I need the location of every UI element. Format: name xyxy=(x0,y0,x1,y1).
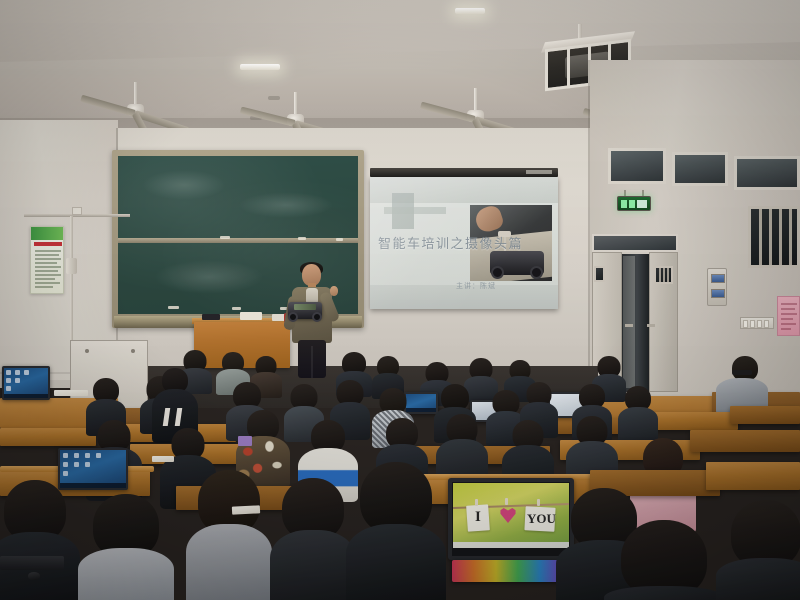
desktop-icon[interactable] xyxy=(63,453,68,458)
cabinet-screw xyxy=(85,349,89,353)
wall-control-panel[interactable] xyxy=(707,268,727,306)
poster-title-bar xyxy=(34,242,62,246)
student-body xyxy=(270,530,356,600)
upper-window xyxy=(672,152,728,186)
smart-car-robot xyxy=(288,302,322,319)
slide-title-text: 智能车培训之摄像头篇 xyxy=(378,233,502,252)
photo-smart-car xyxy=(490,251,544,275)
poster-text-line xyxy=(781,318,793,320)
slide-subtitle-text: 主讲：陈斌 xyxy=(456,281,496,291)
door-window-bar xyxy=(659,268,661,282)
classroom-photo: 智能车培训之摄像头篇 主讲：陈斌 xyxy=(0,0,800,600)
barred-window xyxy=(748,206,800,268)
photo-hand xyxy=(473,205,505,234)
cage-bar xyxy=(567,46,570,88)
ceiling-light xyxy=(240,64,280,70)
wallpaper-clothespin xyxy=(475,499,478,506)
chalk-piece[interactable] xyxy=(336,238,343,241)
desktop-icon[interactable] xyxy=(74,462,79,467)
poster-text-line xyxy=(35,250,61,252)
control-panel-display xyxy=(711,289,725,298)
poster-header-band xyxy=(31,227,63,240)
student-body xyxy=(346,524,446,600)
light-switch[interactable] xyxy=(764,320,769,328)
laptop-screen[interactable] xyxy=(4,368,48,398)
wallpaper-clothespin xyxy=(537,499,540,506)
window-bar xyxy=(769,209,772,265)
student-foreground xyxy=(604,520,724,600)
poster-text-line xyxy=(35,270,58,272)
student xyxy=(618,386,658,440)
poster-text-line xyxy=(35,258,61,260)
student-body-light xyxy=(186,524,272,600)
student-body-light xyxy=(78,548,174,600)
desktop-icon[interactable] xyxy=(63,471,68,476)
cabinet-screw xyxy=(131,349,135,353)
light-switch[interactable] xyxy=(757,320,762,328)
eyeglasses xyxy=(732,370,752,375)
ceiling-light xyxy=(455,8,485,14)
exit-sign-glyph xyxy=(629,200,635,208)
poster-text-line xyxy=(35,282,60,284)
student-foreground xyxy=(0,480,80,600)
desktop-icon[interactable] xyxy=(96,453,101,458)
door-left-window xyxy=(594,266,605,282)
door-window-bar xyxy=(667,268,669,282)
upper-window xyxy=(608,148,666,184)
desktop-icon[interactable] xyxy=(6,386,11,391)
wallpaper-text-i: I xyxy=(475,509,481,526)
student-right-side xyxy=(716,356,768,412)
desk-note[interactable] xyxy=(238,436,252,446)
student-foreground xyxy=(78,494,174,600)
poster-text-line xyxy=(35,254,59,256)
exit-sign-arrow-glyph xyxy=(637,200,647,208)
wall-rail-bracket xyxy=(72,207,82,215)
robot-wheel xyxy=(312,312,322,322)
projection-screen: 智能车培训之摄像头篇 主讲：陈斌 xyxy=(370,177,558,309)
poster-text-line xyxy=(35,286,53,288)
poster-text-line xyxy=(781,303,797,305)
laptop-left-blue[interactable] xyxy=(2,366,50,400)
pink-notice-poster xyxy=(777,296,800,336)
student-foreground xyxy=(716,500,800,600)
laptop-keyboard[interactable] xyxy=(0,556,64,570)
desk-row-front xyxy=(706,462,800,490)
chalk-piece[interactable] xyxy=(220,236,230,239)
student-body xyxy=(604,586,724,600)
desk-papers[interactable] xyxy=(54,390,88,396)
desktop-icon[interactable] xyxy=(63,462,68,467)
light-switch[interactable] xyxy=(750,320,755,328)
screen-brand-label xyxy=(526,170,552,174)
poster-text-line xyxy=(35,274,61,276)
laptop-taskbar[interactable] xyxy=(453,542,569,548)
door-right-window xyxy=(654,266,673,284)
window-bar xyxy=(779,209,782,265)
presenter-right-hand xyxy=(330,286,338,296)
robot-circuit-board xyxy=(294,304,316,310)
door-transom-window xyxy=(592,234,678,252)
door-window-bar xyxy=(663,268,665,282)
chalk-piece[interactable] xyxy=(298,237,306,240)
student-body xyxy=(716,558,800,600)
projection-screen-case xyxy=(370,168,558,177)
poster-text-line xyxy=(35,266,61,268)
poster-text-line xyxy=(781,313,797,315)
chalk-smudge xyxy=(142,170,226,200)
student-foreground xyxy=(270,478,356,600)
desk-papers[interactable] xyxy=(152,456,174,462)
laptop-screen[interactable]: I YOU xyxy=(453,483,569,548)
desktop-icon[interactable] xyxy=(6,378,11,383)
desktop-icon[interactable] xyxy=(74,453,79,458)
podium-paper[interactable] xyxy=(240,312,262,320)
desktop-icon[interactable] xyxy=(85,462,90,467)
wallpaper-clothespin xyxy=(505,498,508,505)
chalk-piece[interactable] xyxy=(232,307,241,310)
door-handle[interactable] xyxy=(625,324,633,327)
poster-text-line xyxy=(781,308,795,310)
emergency-exit-sign xyxy=(617,196,651,211)
window-bar xyxy=(789,209,792,265)
desktop-icon[interactable] xyxy=(15,378,20,383)
wall-conduit-pipe xyxy=(70,216,73,348)
wallpaper-text-you: YOU xyxy=(527,511,556,527)
upper-window xyxy=(734,156,800,190)
chalk-smudge xyxy=(238,192,334,218)
desk-row xyxy=(690,430,800,452)
wall-conduit-joint xyxy=(66,258,77,274)
laptop-wallpaper-blue xyxy=(4,368,48,398)
desk-row xyxy=(730,406,800,424)
classroom-rules-poster xyxy=(30,226,64,294)
light-switch-bank[interactable] xyxy=(740,317,774,329)
desktop-icon[interactable] xyxy=(15,370,20,375)
ceiling-fan xyxy=(420,88,530,132)
desktop-icon[interactable] xyxy=(6,370,11,375)
desktop-icon[interactable] xyxy=(85,453,90,458)
presenter-speaker xyxy=(286,264,338,376)
student-body xyxy=(618,407,658,442)
student-foreground xyxy=(346,462,446,600)
podium-object-dark[interactable] xyxy=(202,314,220,320)
chalkboard-divider xyxy=(118,238,358,243)
exit-sign-glyph xyxy=(621,200,627,208)
presenter-legs xyxy=(298,340,326,378)
window-bar xyxy=(759,209,762,265)
control-panel-display xyxy=(711,274,725,283)
chalk-piece[interactable] xyxy=(168,306,179,309)
poster-text-line xyxy=(781,328,791,330)
laptop-taskbar[interactable] xyxy=(4,394,48,398)
chalk-smudge xyxy=(154,260,264,294)
desktop-icon[interactable] xyxy=(24,370,29,375)
door-handle[interactable] xyxy=(647,324,655,327)
wallpaper-heart-icon xyxy=(499,507,517,523)
computer-mouse[interactable] xyxy=(28,572,40,580)
poster-text-line xyxy=(781,323,796,325)
poster-text-line xyxy=(35,262,57,264)
student-foreground xyxy=(186,470,272,600)
slide-decoration-bar xyxy=(384,207,446,214)
laptop-wallpaper-love: I YOU xyxy=(453,483,569,548)
desk-row xyxy=(0,428,96,446)
robot-wheel xyxy=(288,312,298,322)
wall-corner-seam xyxy=(588,60,590,400)
desk-papers[interactable] xyxy=(232,505,260,514)
poster-text-line xyxy=(35,278,55,280)
light-switch[interactable] xyxy=(743,320,748,328)
